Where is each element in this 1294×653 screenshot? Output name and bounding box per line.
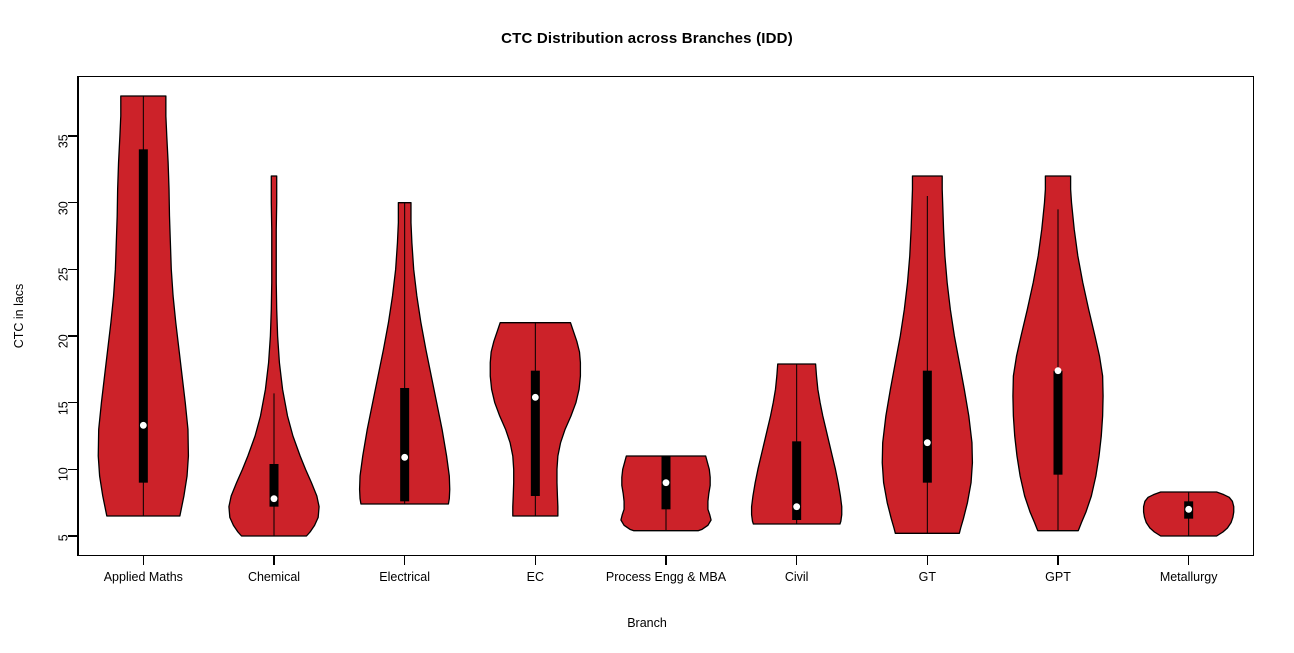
violin-metallurgy <box>1144 492 1234 536</box>
median-point <box>1055 367 1062 374</box>
y-tick-label: 35 <box>58 134 71 148</box>
y-tick-label: 30 <box>58 201 71 215</box>
violin-gpt <box>1013 176 1103 531</box>
x-tick-label-process-engg-mba: Process Engg & MBA <box>606 570 726 584</box>
iqr-box <box>531 371 540 496</box>
x-tick-mark <box>404 556 405 565</box>
x-tick-mark <box>927 556 928 565</box>
x-axis: Applied MathsChemicalElectricalECProcess… <box>0 556 1294 616</box>
y-tick-label: 25 <box>58 268 71 282</box>
median-point <box>1185 506 1192 513</box>
x-tick-mark <box>143 556 144 565</box>
violin-ec <box>490 323 580 516</box>
median-point <box>663 479 670 486</box>
iqr-box <box>923 371 932 483</box>
y-tick-label: 20 <box>58 334 71 348</box>
iqr-box <box>139 149 148 482</box>
y-tick-label: 10 <box>58 468 71 482</box>
y-axis-title: CTC in lacs <box>12 76 28 556</box>
x-tick-mark <box>665 556 666 565</box>
iqr-box <box>1054 371 1063 475</box>
violin-gt <box>882 176 972 533</box>
x-tick-mark <box>1057 556 1058 565</box>
y-tick-label: 15 <box>58 401 71 415</box>
page-title: CTC Distribution across Branches (IDD) <box>0 30 1294 47</box>
violin-chart-page: CTC Distribution across Branches (IDD) 5… <box>0 0 1294 653</box>
violin-chemical <box>229 176 319 536</box>
median-point <box>271 495 278 502</box>
plot-area <box>78 76 1254 556</box>
x-tick-label-electrical: Electrical <box>379 570 430 584</box>
x-tick-label-applied-maths: Applied Maths <box>104 570 183 584</box>
x-tick-mark <box>535 556 536 565</box>
median-point <box>924 439 931 446</box>
x-tick-label-gt: GT <box>919 570 936 584</box>
violin-civil <box>752 364 842 524</box>
x-tick-label-ec: EC <box>527 570 544 584</box>
x-tick-label-civil: Civil <box>785 570 809 584</box>
x-tick-mark <box>273 556 274 565</box>
x-tick-mark <box>796 556 797 565</box>
y-tick-label: 5 <box>58 534 71 541</box>
iqr-box <box>400 388 409 501</box>
x-tick-label-chemical: Chemical <box>248 570 300 584</box>
median-point <box>532 394 539 401</box>
median-point <box>793 503 800 510</box>
x-tick-label-gpt: GPT <box>1045 570 1071 584</box>
violin-applied-maths <box>98 96 188 516</box>
violin-process-engg-mba <box>621 456 711 531</box>
median-point <box>140 422 147 429</box>
violin-electrical <box>360 203 450 504</box>
median-point <box>401 454 408 461</box>
x-tick-label-metallurgy: Metallurgy <box>1160 570 1218 584</box>
x-axis-title: Branch <box>0 616 1294 630</box>
x-tick-mark <box>1188 556 1189 565</box>
